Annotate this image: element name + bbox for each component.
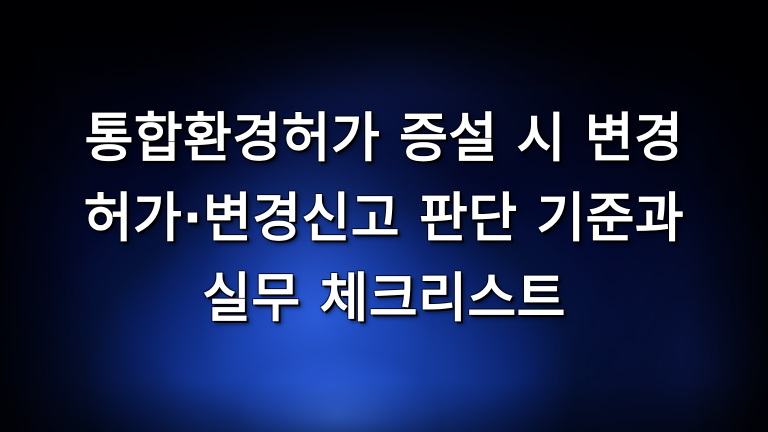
video-thumbnail-card: 통합환경허가 증설 시 변경 허가·변경신고 판단 기준과 실무 체크리스트 — [0, 0, 768, 432]
title-line-1: 통합환경허가 증설 시 변경 — [0, 99, 768, 179]
title-block: 통합환경허가 증설 시 변경 허가·변경신고 판단 기준과 실무 체크리스트 — [0, 0, 768, 432]
title-line-3: 실무 체크리스트 — [0, 259, 768, 339]
title-line-2: 허가·변경신고 판단 기준과 — [0, 179, 768, 259]
